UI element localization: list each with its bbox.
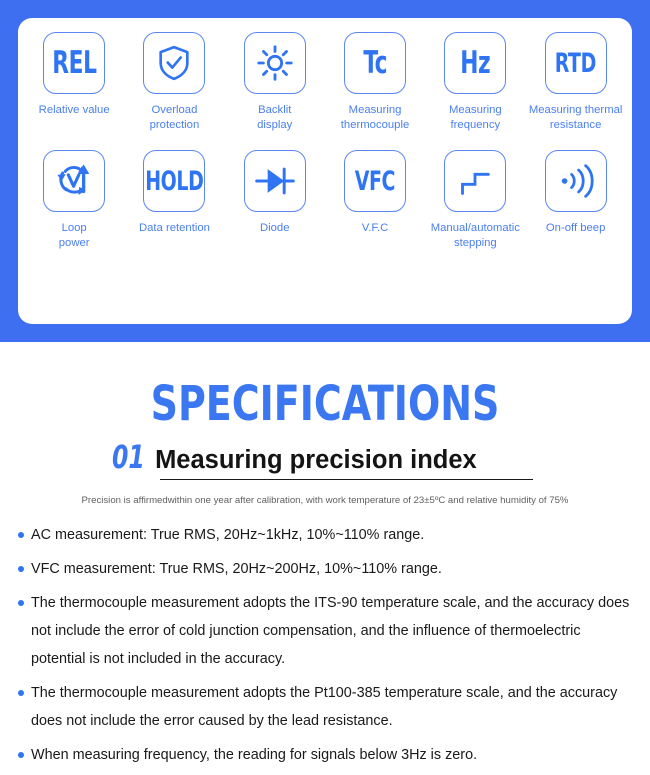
list-item-text: When measuring frequency, the reading fo… xyxy=(31,741,650,769)
feature-label: Overloadprotection xyxy=(124,103,224,132)
list-item: The thermocouple measurement adopts the … xyxy=(0,589,650,673)
feature-label: Diode xyxy=(225,221,325,236)
rel-text-icon-box: REL xyxy=(43,32,105,94)
feature-label: Backlitdisplay xyxy=(225,103,325,132)
list-item-text: The thermocouple measurement adopts the … xyxy=(31,679,650,735)
feature-item-measuring-frequency[interactable]: Hz Measuringfrequency xyxy=(425,32,525,132)
feature-label: V.F.C xyxy=(325,221,425,236)
shield-check-icon xyxy=(154,43,194,83)
bullet-dot-icon xyxy=(18,752,24,758)
hz-text-icon-box: Hz xyxy=(444,32,506,94)
precision-fineprint: Precision is affirmedwithin one year aft… xyxy=(0,494,650,508)
feature-item-backlit-display[interactable]: Backlitdisplay xyxy=(225,32,325,132)
features-card: REL Relative value Overloadprotection xyxy=(18,18,632,324)
feature-label: Looppower xyxy=(24,221,124,250)
bullet-dot-icon xyxy=(18,600,24,606)
hold-text-icon-box: HOLD xyxy=(143,150,205,212)
bullet-dot-icon xyxy=(18,532,24,538)
feature-item-overload-protection[interactable]: Overloadprotection xyxy=(124,32,224,132)
feature-label: Measuringthermocouple xyxy=(325,103,425,132)
vfc-text-icon: VFC xyxy=(355,168,395,195)
sun-backlight-icon xyxy=(255,43,295,83)
list-item-text: VFC measurement: True RMS, 20Hz~200Hz, 1… xyxy=(31,555,650,583)
hold-text-icon: HOLD xyxy=(145,168,203,195)
feature-label: Measuring thermalresistance xyxy=(526,103,626,132)
list-item: The thermocouple measurement adopts the … xyxy=(0,679,650,735)
section-subheading: Measuring precision index xyxy=(155,443,477,477)
feature-item-manual-automatic-stepping[interactable]: Manual/automaticstepping xyxy=(425,150,525,250)
shield-check-icon-box xyxy=(143,32,205,94)
feature-grid: REL Relative value Overloadprotection xyxy=(18,32,632,250)
beep-sound-icon xyxy=(555,160,597,202)
step-waveform-icon xyxy=(455,161,495,201)
feature-item-data-retention[interactable]: HOLD Data retention xyxy=(124,150,224,250)
list-item: AC measurement: True RMS, 20Hz~1kHz, 10%… xyxy=(0,521,650,549)
rtd-text-icon-box: RTD xyxy=(545,32,607,94)
list-item: VFC measurement: True RMS, 20Hz~200Hz, 1… xyxy=(0,555,650,583)
list-item-text: The thermocouple measurement adopts the … xyxy=(31,589,650,673)
list-item-text: AC measurement: True RMS, 20Hz~1kHz, 10%… xyxy=(31,521,650,549)
specifications-subheading-row: 01Measuring precision index xyxy=(0,440,650,484)
feature-row: Looppower HOLD Data retention xyxy=(18,150,632,250)
diode-icon-box xyxy=(244,150,306,212)
feature-label: On-off beep xyxy=(526,221,626,236)
vfc-text-icon-box: VFC xyxy=(344,150,406,212)
feature-item-on-off-beep[interactable]: On-off beep xyxy=(525,150,625,250)
feature-label: Manual/automaticstepping xyxy=(425,221,525,250)
hz-text-icon: Hz xyxy=(460,48,490,79)
rtd-text-icon: RTD xyxy=(555,50,596,77)
tc-text-icon: Tc xyxy=(363,48,387,79)
bullet-dot-icon xyxy=(18,690,24,696)
feature-label: Relative value xyxy=(24,103,124,118)
section-number: 01 xyxy=(112,440,145,474)
feature-item-diode[interactable]: Diode xyxy=(225,150,325,250)
feature-item-vfc[interactable]: VFC V.F.C xyxy=(325,150,425,250)
subheading-underline xyxy=(160,479,533,480)
feature-label: Data retention xyxy=(124,221,224,236)
diode-icon xyxy=(253,159,297,203)
specifications-title: SPECIFICATIONS xyxy=(39,379,611,429)
loop-power-icon-box xyxy=(43,150,105,212)
bullet-dot-icon xyxy=(18,566,24,572)
tc-text-icon-box: Tc xyxy=(344,32,406,94)
step-waveform-icon-box xyxy=(444,150,506,212)
list-item: When measuring frequency, the reading fo… xyxy=(0,741,650,769)
loop-power-icon xyxy=(53,160,95,202)
feature-item-measuring-thermocouple[interactable]: Tc Measuringthermocouple xyxy=(325,32,425,132)
feature-label: Measuringfrequency xyxy=(425,103,525,132)
features-panel: REL Relative value Overloadprotection xyxy=(0,0,650,342)
feature-item-relative-value[interactable]: REL Relative value xyxy=(24,32,124,132)
feature-row: REL Relative value Overloadprotection xyxy=(18,32,632,132)
sun-backlight-icon-box xyxy=(244,32,306,94)
specification-bullet-list: AC measurement: True RMS, 20Hz~1kHz, 10%… xyxy=(0,521,650,769)
specifications-section: SPECIFICATIONS 01Measuring precision ind… xyxy=(0,342,650,775)
feature-item-measuring-thermal-resistance[interactable]: RTD Measuring thermalresistance xyxy=(525,32,625,132)
beep-sound-icon-box xyxy=(545,150,607,212)
feature-item-loop-power[interactable]: Looppower xyxy=(24,150,124,250)
rel-text-icon: REL xyxy=(52,48,96,79)
